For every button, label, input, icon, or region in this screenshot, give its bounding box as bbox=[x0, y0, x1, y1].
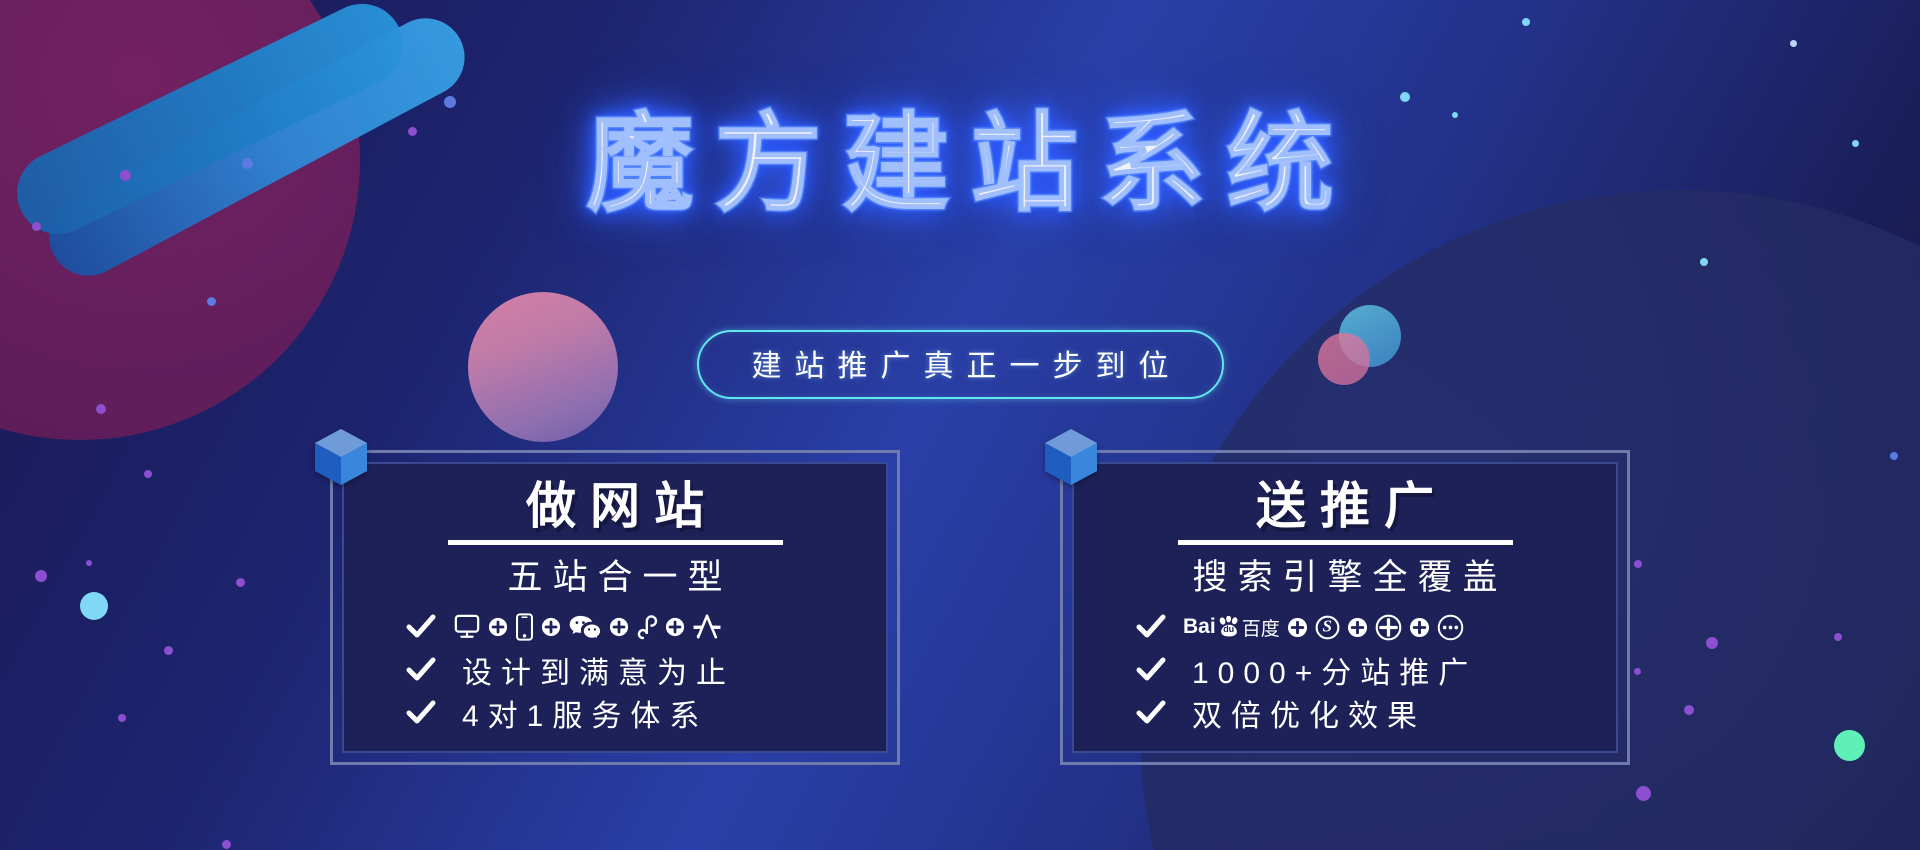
feature-row-search-engines: Bai du 百度 bbox=[1136, 607, 1616, 647]
plus-circle-icon bbox=[541, 617, 561, 637]
plus-circle-icon bbox=[1287, 617, 1308, 638]
feature-row-design: 设计到满意为止 bbox=[406, 650, 886, 690]
feature-text: 双倍优化效果 bbox=[1183, 691, 1426, 735]
card-divider bbox=[448, 540, 783, 545]
card-make-website[interactable]: 做网站 五站合一型 bbox=[330, 450, 900, 765]
feature-row-platforms bbox=[406, 607, 886, 647]
mobile-phone-icon bbox=[515, 613, 534, 641]
baidu-chinese-text: 百度 bbox=[1242, 614, 1280, 641]
baidu-logo-icon: Bai du 百度 bbox=[1183, 614, 1280, 641]
main-title-container: 魔方建站系统 bbox=[0, 100, 1920, 227]
card-feature-rows: 设计到满意为止 4对1服务体系 bbox=[344, 604, 886, 733]
baidu-paw-icon: du bbox=[1217, 616, 1241, 638]
banner-root: 魔方建站系统 建站推广真正一步到位 bbox=[0, 0, 1920, 850]
check-icon bbox=[406, 700, 436, 726]
platform-icon-list bbox=[453, 613, 722, 641]
feature-text: 4对1服务体系 bbox=[453, 691, 708, 735]
desktop-monitor-icon bbox=[453, 614, 481, 640]
check-icon bbox=[1136, 700, 1166, 726]
star-dot bbox=[207, 297, 216, 306]
subtitle-pill: 建站推广真正一步到位 bbox=[697, 330, 1224, 399]
card-inner: 做网站 五站合一型 bbox=[342, 462, 888, 753]
app-store-icon bbox=[692, 614, 722, 640]
card-title: 做网站 bbox=[512, 480, 718, 533]
card-title: 送推广 bbox=[1242, 480, 1448, 533]
more-ellipsis-icon bbox=[1437, 614, 1464, 641]
card-subtitle: 五站合一型 bbox=[497, 549, 732, 600]
feature-row-service: 4对1服务体系 bbox=[406, 693, 886, 733]
sogou-letter: S bbox=[1322, 617, 1331, 637]
plus-circle-icon bbox=[1347, 617, 1368, 638]
check-icon bbox=[1136, 614, 1166, 640]
card-free-promotion[interactable]: 送推广 搜索引擎全覆盖 Bai bbox=[1060, 450, 1630, 765]
wechat-icon bbox=[568, 614, 602, 640]
baidu-latin-text: Bai bbox=[1183, 615, 1216, 639]
plus-circle-icon bbox=[665, 617, 685, 637]
feature-text: 1000+分站推广 bbox=[1183, 648, 1477, 692]
feature-row-double-effect: 双倍优化效果 bbox=[1136, 693, 1616, 733]
star-dot bbox=[1790, 40, 1797, 47]
card-subtitle: 搜索引擎全覆盖 bbox=[1182, 549, 1507, 600]
check-icon bbox=[406, 614, 436, 640]
page-title: 魔方建站系统 bbox=[566, 100, 1354, 227]
check-icon bbox=[406, 657, 436, 683]
feature-text: 设计到满意为止 bbox=[453, 648, 735, 692]
search-engine-icon-list: Bai du 百度 bbox=[1183, 614, 1464, 641]
subtitle-container: 建站推广真正一步到位 bbox=[0, 330, 1920, 399]
cube-decoration-icon bbox=[1041, 427, 1101, 491]
feature-cards: 做网站 五站合一型 bbox=[0, 450, 1920, 780]
card-inner: 送推广 搜索引擎全覆盖 Bai bbox=[1072, 462, 1618, 753]
plus-circle-icon bbox=[1409, 617, 1430, 638]
feature-row-subsites: 1000+分站推广 bbox=[1136, 650, 1616, 690]
plus-circle-icon bbox=[609, 617, 629, 637]
star-dot bbox=[1636, 786, 1651, 801]
star-dot bbox=[222, 840, 231, 849]
star-dot bbox=[1522, 18, 1530, 26]
star-dot bbox=[96, 404, 106, 414]
plus-circle-icon bbox=[488, 617, 508, 637]
star-dot bbox=[1700, 258, 1708, 266]
cube-decoration-icon bbox=[311, 427, 371, 491]
qq-music-note-icon bbox=[636, 613, 658, 641]
card-feature-rows: Bai du 百度 bbox=[1074, 604, 1616, 733]
baidu-du-text: du bbox=[1223, 624, 1234, 634]
card-divider bbox=[1178, 540, 1513, 545]
sogou-logo-icon: S bbox=[1315, 615, 1340, 640]
check-icon bbox=[1136, 657, 1166, 683]
360-search-logo-icon bbox=[1375, 614, 1402, 641]
